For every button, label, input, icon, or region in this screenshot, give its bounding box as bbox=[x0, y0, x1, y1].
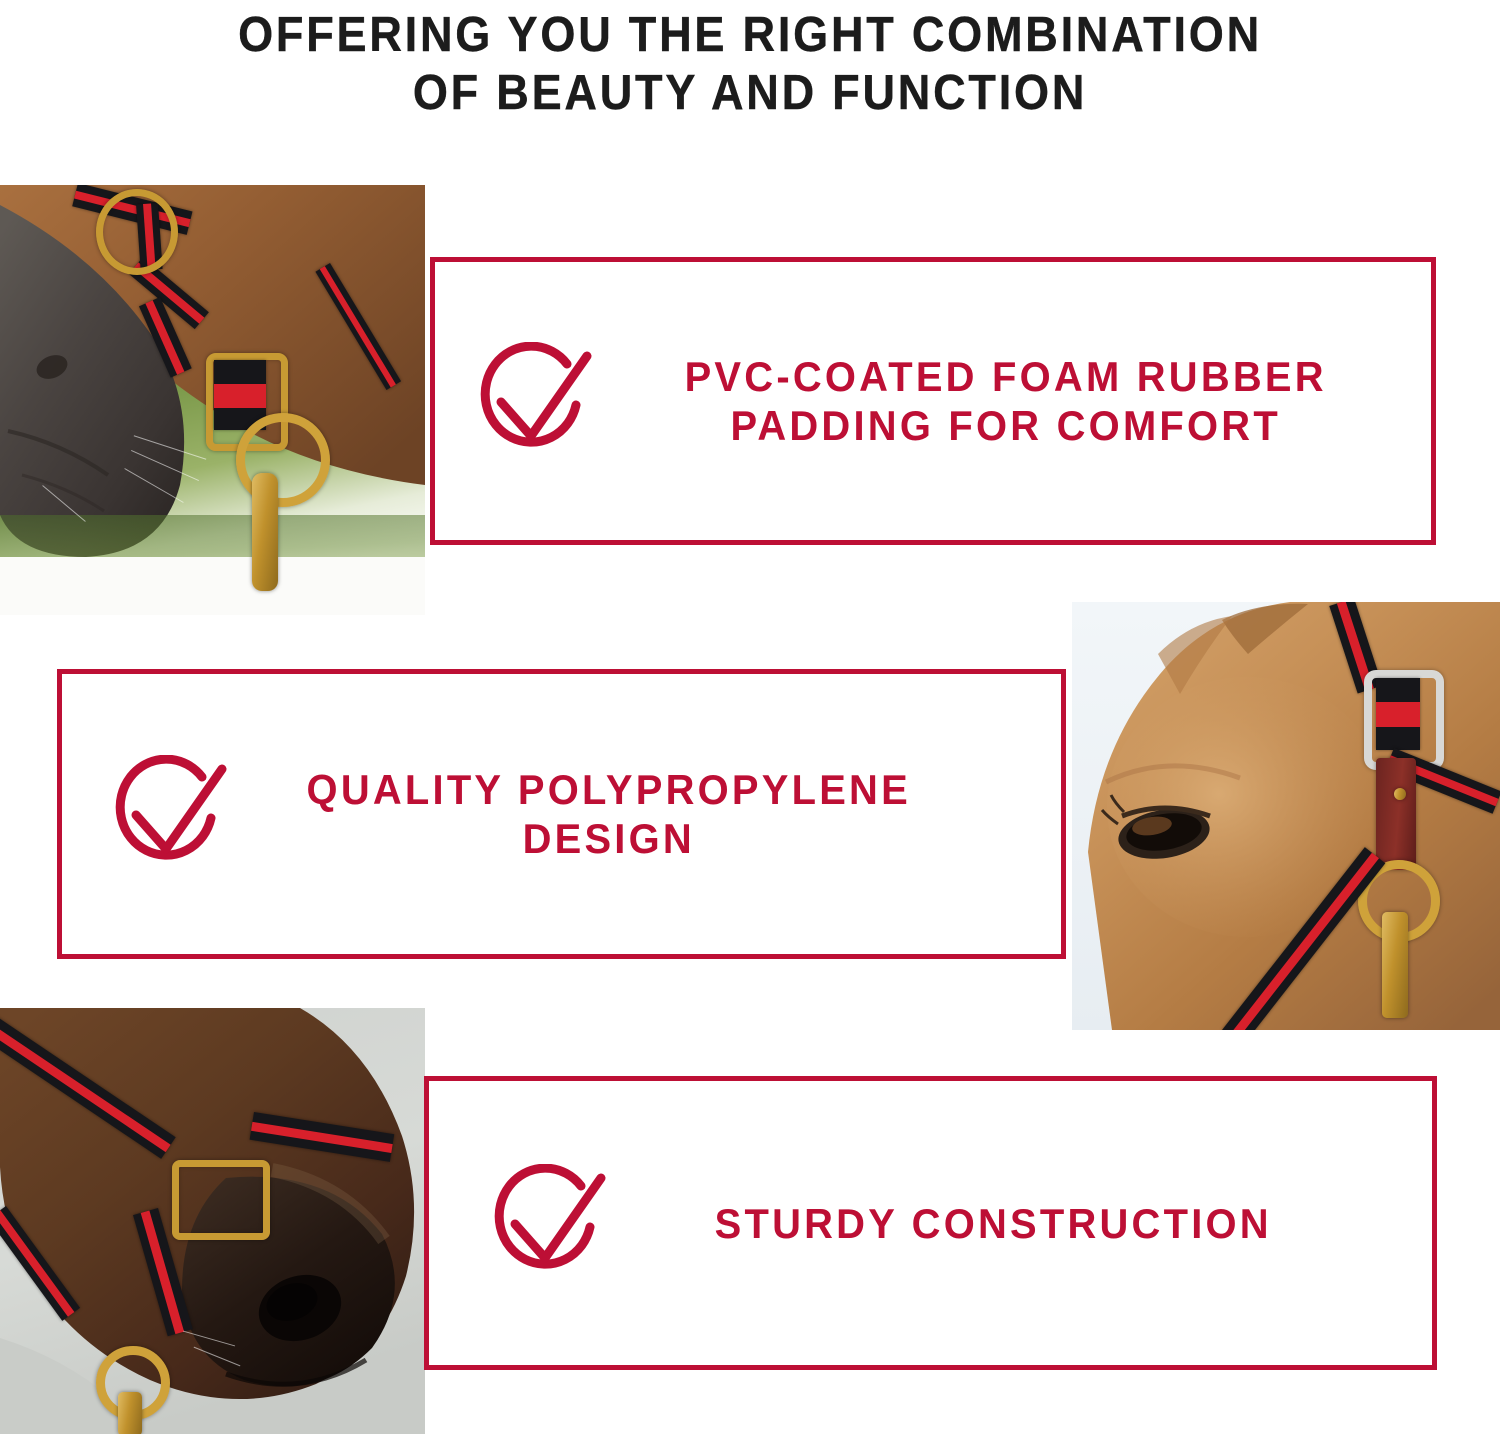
feature-box-pvc-padding: PVC-COATED FOAM RUBBER PADDING FOR COMFO… bbox=[430, 257, 1436, 545]
brass-square-ring bbox=[172, 1160, 270, 1240]
feature-label-sturdy-construction: STURDY CONSTRUCTION bbox=[627, 1199, 1388, 1248]
check-circle-icon bbox=[489, 1164, 607, 1282]
brass-rivet bbox=[1394, 788, 1406, 800]
feature-box-sturdy-construction: STURDY CONSTRUCTION bbox=[424, 1076, 1437, 1370]
check-circle-icon bbox=[110, 755, 228, 873]
brass-square-ring bbox=[96, 189, 178, 275]
feature-label-pvc-padding: PVC-COATED FOAM RUBBER PADDING FOR COMFO… bbox=[613, 352, 1386, 450]
infographic-page: OFFERING YOU THE RIGHT COMBINATION OF BE… bbox=[0, 0, 1500, 1434]
photo-horse-nose-gray bbox=[0, 1008, 425, 1434]
brass-snap-hook bbox=[1382, 912, 1408, 1018]
brass-ring bbox=[236, 413, 330, 507]
feature-box-polypropylene-design: QUALITY POLYPROPYLENE DESIGN bbox=[57, 669, 1066, 959]
brass-snap-hook bbox=[252, 473, 278, 591]
photo-horse-muzzle-grass bbox=[0, 185, 425, 615]
feature-label-polypropylene-design: QUALITY POLYPROPYLENE DESIGN bbox=[248, 765, 1017, 863]
brass-snap-hook bbox=[118, 1392, 142, 1434]
page-title: OFFERING YOU THE RIGHT COMBINATION OF BE… bbox=[60, 0, 1440, 122]
photo-horse-head-profile bbox=[1072, 602, 1500, 1030]
check-circle-icon bbox=[475, 342, 593, 460]
halter-strap bbox=[1376, 678, 1420, 750]
leather-crown-piece bbox=[1376, 758, 1416, 870]
